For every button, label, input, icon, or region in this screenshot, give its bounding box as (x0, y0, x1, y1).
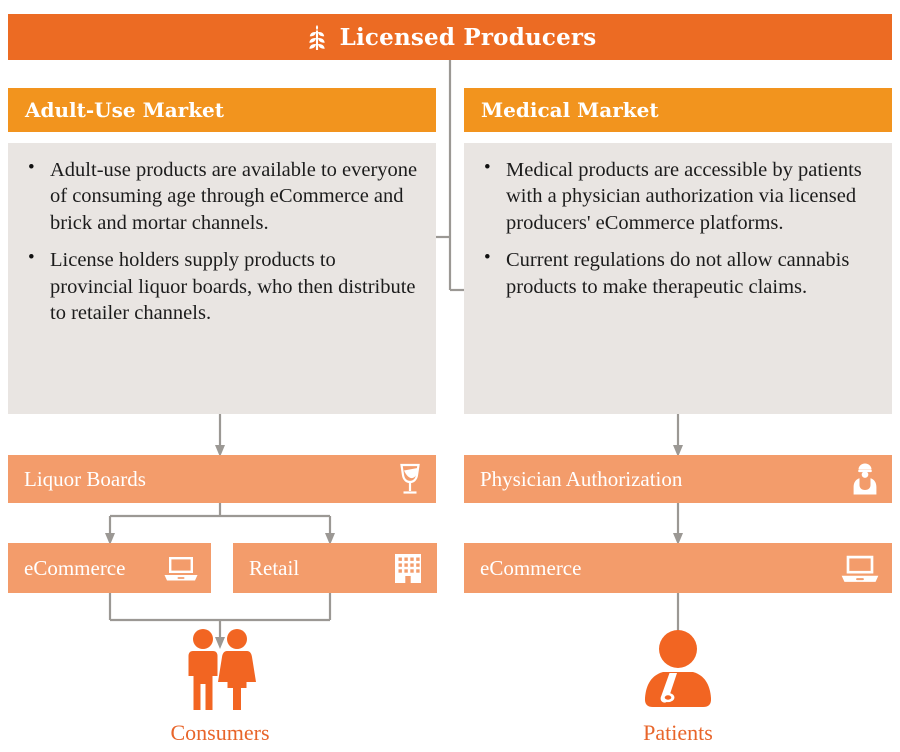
list-item: Current regulations do not allow cannabi… (474, 247, 876, 300)
stage-ecommerce-medical: eCommerce (464, 543, 892, 593)
adult-use-market-header: Adult-Use Market (8, 88, 436, 132)
endpoint-patients: Patients (598, 628, 758, 746)
stage-ecommerce-adult-use: eCommerce (8, 543, 211, 593)
medical-market-label: Medical Market (464, 98, 659, 122)
medical-market-header: Medical Market (464, 88, 892, 132)
man-woman-icon (170, 628, 270, 714)
adult-use-description-panel: Adult-use products are available to ever… (8, 143, 436, 414)
wine-glass-icon (396, 462, 424, 496)
wheat-sprout-icon (304, 22, 330, 52)
laptop-icon (840, 551, 880, 585)
stage-liquor-boards: Liquor Boards (8, 455, 436, 503)
stage-label: eCommerce (8, 556, 125, 581)
licensed-producers-banner: Licensed Producers (8, 14, 892, 60)
patient-sling-icon (628, 628, 728, 714)
stage-label: Physician Authorization (464, 467, 682, 492)
laptop-icon (163, 553, 199, 583)
diagram-canvas: Licensed Producers Adult-Use Market Medi… (0, 0, 900, 752)
stage-label: Liquor Boards (8, 467, 146, 492)
adult-use-market-label: Adult-Use Market (8, 98, 224, 122)
adult-use-bullet-list: Adult-use products are available to ever… (18, 157, 420, 327)
list-item: Medical products are accessible by patie… (474, 157, 876, 236)
building-icon (391, 552, 425, 584)
endpoint-consumers: Consumers (140, 628, 300, 746)
split-bus-liquor (110, 503, 330, 516)
page-title: Licensed Producers (340, 24, 597, 51)
medical-bullet-list: Medical products are accessible by patie… (474, 157, 876, 300)
list-item: License holders supply products to provi… (18, 247, 420, 326)
stage-retail: Retail (233, 543, 437, 593)
endpoint-label: Patients (598, 720, 758, 746)
stage-label: Retail (233, 556, 299, 581)
merge-bus-consumers (110, 593, 330, 620)
endpoint-label: Consumers (140, 720, 300, 746)
medical-description-panel: Medical products are accessible by patie… (464, 143, 892, 414)
stage-label: eCommerce (464, 556, 581, 581)
stage-physician-authorization: Physician Authorization (464, 455, 892, 503)
list-item: Adult-use products are available to ever… (18, 157, 420, 236)
doctor-icon (850, 462, 880, 496)
